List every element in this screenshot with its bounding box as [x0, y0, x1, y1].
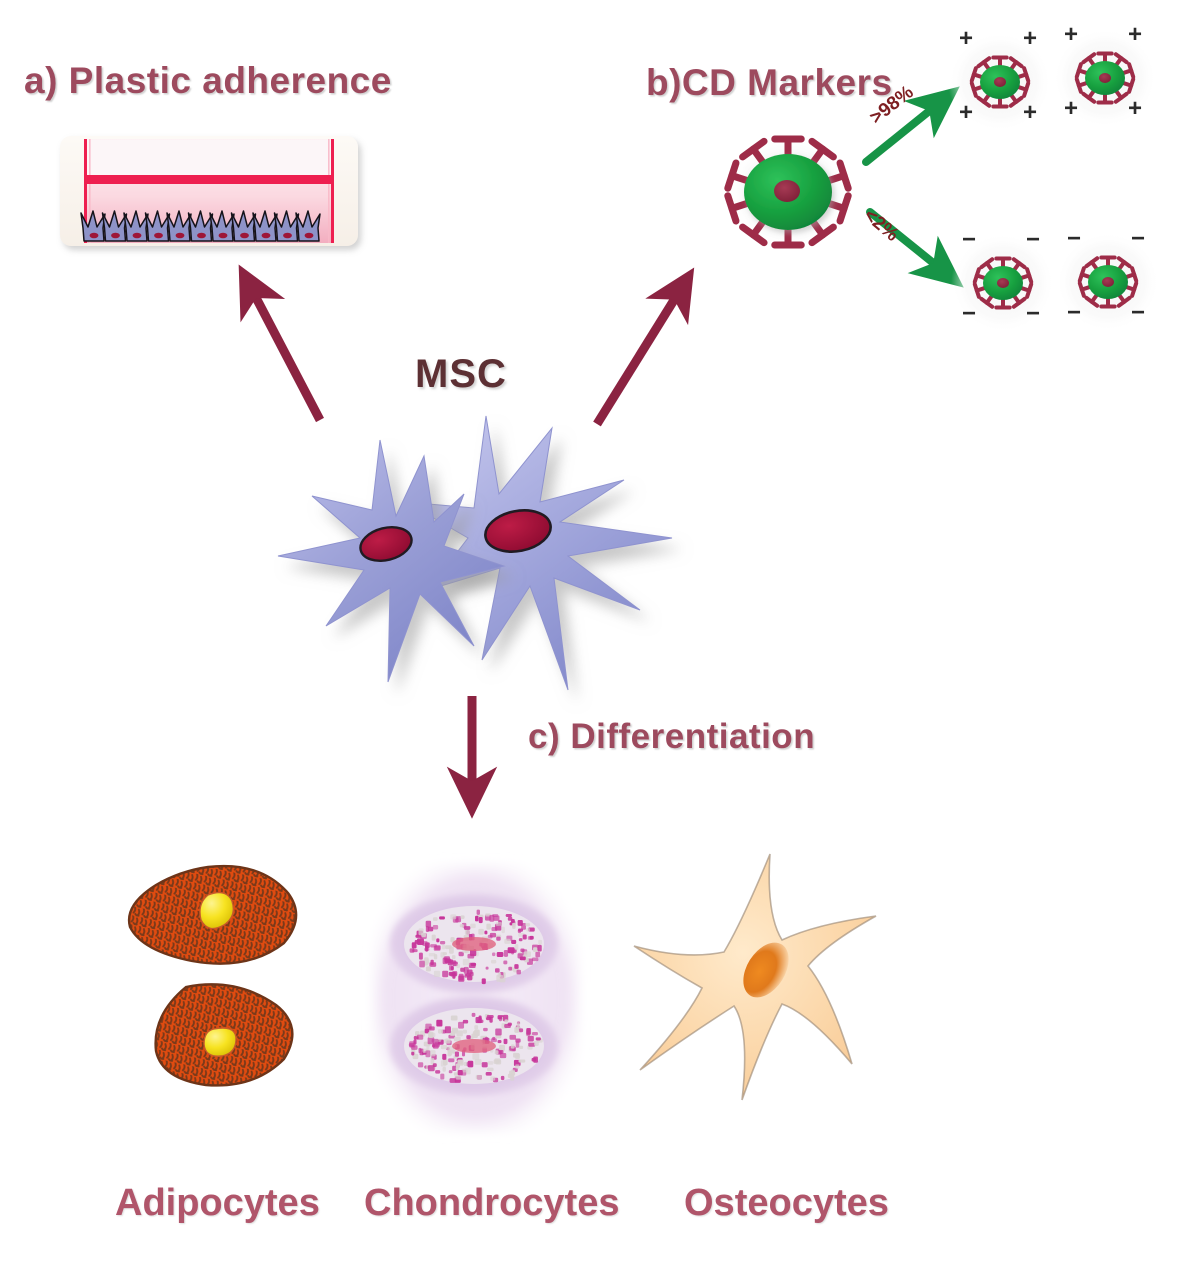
granule: [501, 927, 504, 933]
granule: [445, 1038, 450, 1043]
chondrocyte-nucleus-1: [452, 937, 496, 951]
mesenchymal-stem-cells: [268, 398, 688, 698]
granule: [495, 1029, 501, 1036]
granule: [496, 937, 500, 941]
granule: [432, 935, 436, 941]
granule: [508, 1074, 511, 1078]
granule: [464, 967, 469, 974]
granule: [535, 952, 540, 958]
granule: [442, 971, 448, 977]
granule: [516, 1041, 520, 1047]
granule: [511, 1044, 515, 1048]
granule: [491, 927, 497, 931]
granule: [452, 974, 455, 979]
granule: [501, 1076, 504, 1080]
granule: [519, 938, 523, 941]
granule: [508, 967, 512, 971]
granule: [503, 961, 507, 965]
granule: [419, 928, 424, 935]
granule: [488, 1061, 494, 1065]
osteocytes-label: Osteocytes: [684, 1182, 889, 1225]
granule: [520, 956, 526, 960]
granule: [438, 1029, 443, 1033]
granule: [459, 974, 464, 981]
granule: [458, 1070, 463, 1075]
granule: [411, 1052, 414, 1056]
granule: [441, 1045, 447, 1049]
granule: [515, 944, 519, 950]
granule: [474, 1025, 478, 1029]
granule: [450, 914, 456, 919]
chondrocytes-label: Chondrocytes: [364, 1182, 619, 1225]
granule: [511, 940, 516, 944]
granule: [445, 1026, 451, 1033]
granule: [468, 1061, 474, 1068]
granule: [512, 923, 515, 929]
granule: [476, 1075, 482, 1079]
granule: [490, 933, 496, 937]
granule: [475, 1059, 482, 1065]
granule: [504, 1019, 508, 1022]
granule: [491, 1038, 497, 1042]
granule: [467, 954, 474, 959]
msc-cell-left: [278, 440, 504, 682]
granule: [434, 971, 440, 977]
granule: [498, 1040, 502, 1043]
granule: [508, 947, 515, 953]
granule: [451, 1016, 458, 1021]
granule: [450, 1078, 457, 1083]
granule: [433, 925, 438, 929]
granule: [450, 960, 456, 964]
granule: [461, 915, 465, 919]
granule: [449, 1070, 453, 1073]
granule: [430, 960, 433, 965]
granule: [526, 1029, 530, 1036]
granule: [519, 1028, 523, 1032]
granule: [426, 966, 431, 971]
granule: [449, 947, 454, 954]
granule: [504, 1024, 511, 1028]
granule: [457, 1059, 463, 1065]
granule: [454, 1037, 461, 1042]
granule: [418, 1048, 421, 1053]
granule: [448, 1058, 454, 1062]
granule: [523, 934, 527, 939]
granule: [511, 1069, 515, 1074]
chondrocyte-illustration: [356, 852, 596, 1144]
granule: [410, 948, 415, 952]
granule: [466, 1035, 470, 1039]
granule: [533, 1057, 538, 1063]
granule: [482, 978, 486, 984]
figure-canvas: a) Plastic adherence: [0, 0, 1200, 1262]
granule: [440, 1074, 444, 1080]
granule: [443, 952, 447, 955]
granule: [482, 1062, 488, 1067]
granule: [426, 959, 429, 963]
granule: [495, 968, 500, 972]
granule: [436, 1020, 442, 1027]
granule: [470, 972, 474, 976]
granule: [412, 942, 417, 948]
granule: [495, 1050, 499, 1054]
granule: [493, 916, 499, 921]
granule: [449, 965, 454, 970]
granule: [516, 970, 520, 975]
granule: [504, 950, 508, 957]
granule: [419, 953, 423, 960]
granule: [432, 1039, 439, 1043]
granule: [477, 910, 480, 915]
granule: [533, 947, 537, 952]
granule: [452, 1066, 456, 1071]
granule: [513, 1053, 519, 1058]
granule: [417, 1035, 423, 1040]
granule: [477, 1020, 483, 1023]
granule: [518, 929, 521, 933]
osteocyte-illustration: [630, 848, 900, 1110]
granule: [443, 1067, 446, 1072]
granule: [499, 1017, 502, 1021]
granule: [519, 1046, 523, 1049]
granule: [463, 959, 470, 966]
granule: [439, 916, 445, 919]
granule: [483, 1028, 488, 1031]
granule: [532, 1032, 538, 1035]
granule: [428, 1065, 435, 1071]
chondrocyte-cell-1: [390, 894, 558, 994]
granule: [442, 945, 445, 950]
granule: [496, 922, 502, 926]
granule: [409, 1043, 414, 1047]
granule: [432, 1044, 435, 1047]
granule: [425, 1050, 430, 1057]
granule: [509, 1035, 516, 1040]
granule: [444, 958, 450, 962]
msc-label: MSC: [415, 352, 507, 397]
granule: [426, 921, 431, 928]
granule: [424, 948, 429, 951]
granule: [456, 964, 460, 968]
granule: [528, 936, 533, 940]
granule: [479, 917, 483, 923]
granule: [475, 916, 478, 922]
granule: [515, 1064, 519, 1068]
granule: [538, 940, 542, 945]
adipocyte-cell-2: [156, 984, 293, 1085]
granule: [525, 923, 530, 926]
granule: [526, 928, 530, 932]
granule: [495, 1060, 501, 1065]
granule: [534, 1041, 539, 1046]
lipid-droplet-2: [204, 1028, 236, 1056]
granule: [452, 1028, 458, 1032]
granule: [491, 960, 496, 964]
granule: [442, 1054, 446, 1060]
adipocyte-cell-1: [129, 866, 296, 964]
granule: [528, 1036, 534, 1042]
chondrocyte-nucleus-2: [452, 1039, 496, 1053]
granule: [486, 1072, 492, 1076]
granule: [472, 1053, 479, 1059]
granule: [514, 964, 518, 969]
granule: [498, 972, 501, 977]
granule: [418, 1062, 423, 1067]
granule: [492, 952, 495, 956]
granule: [536, 1037, 541, 1040]
granule: [470, 924, 475, 929]
granule: [473, 1031, 478, 1034]
granule: [422, 941, 427, 946]
adipocyte-illustration: [108, 855, 348, 1115]
granule: [419, 961, 425, 968]
granule: [458, 1022, 464, 1029]
granule: [463, 1030, 467, 1034]
granule: [469, 963, 476, 968]
granule: [487, 1068, 493, 1072]
granule: [425, 1024, 431, 1030]
granule: [433, 917, 438, 921]
granule: [486, 967, 489, 970]
granule: [497, 952, 504, 957]
granule: [517, 1022, 520, 1027]
granule: [440, 941, 445, 944]
granule: [460, 924, 464, 927]
granule: [478, 929, 483, 935]
granule: [486, 1017, 491, 1020]
granule: [435, 1070, 440, 1074]
adipocytes-label: Adipocytes: [115, 1182, 320, 1225]
granule: [452, 955, 456, 959]
granule: [506, 914, 512, 917]
granule: [518, 1060, 525, 1063]
granule: [464, 926, 470, 930]
granule: [428, 1032, 433, 1038]
granule: [504, 939, 510, 944]
panel-c-heading: c) Differentiation: [528, 717, 815, 757]
granule: [436, 938, 439, 942]
granule: [455, 1051, 459, 1056]
granule: [441, 1060, 446, 1066]
granule: [447, 1051, 451, 1056]
granule: [521, 923, 526, 930]
granule: [490, 1076, 495, 1080]
granule: [520, 949, 524, 953]
granule: [472, 1013, 476, 1017]
granule: [484, 931, 487, 935]
granule: [504, 1039, 508, 1044]
chondrocyte-cell-2: [390, 996, 558, 1096]
granule: [486, 924, 490, 930]
granule: [434, 954, 437, 959]
granule: [479, 1015, 482, 1020]
granule: [430, 944, 437, 947]
